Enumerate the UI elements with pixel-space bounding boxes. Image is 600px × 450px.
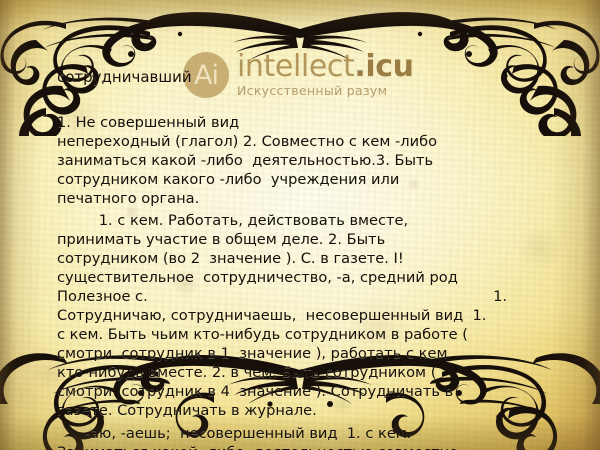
line-text: сотрудничавший <box>57 68 192 86</box>
definition-line: Сотрудничаю, сотрудничаешь, несовершенны… <box>57 306 557 325</box>
line-text: печатного органа. <box>57 190 199 207</box>
line-text: Сотрудничаю, сотрудничаешь, несовершенны… <box>57 307 486 324</box>
line-text: -аю, -аешь; несовершенный вид 1. с кем. <box>57 425 411 442</box>
definition-line: заниматься какой -либо деятельностью.3. … <box>57 151 557 170</box>
definition-line: сотрудником (во 2 значение ). С. в газет… <box>57 249 557 268</box>
line-text: принимать участие в общем деле. 2. Быть <box>57 231 385 248</box>
line-text: смотри сотрудник в 4 значение ). Сотрудн… <box>57 383 453 400</box>
definition-line: печатного органа. <box>57 189 557 208</box>
line-text: непереходный (глагол) 2. Совместно с кем… <box>57 133 437 150</box>
line-text: Полезное с. <box>57 288 148 305</box>
definition-line: 1. Не совершенный вид <box>57 113 557 132</box>
definition-line: существительное сотрудничество, -а, сред… <box>57 268 557 287</box>
definition-line: 1. с кем. Работать, действовать вместе, <box>57 211 557 230</box>
line-text: 1. с кем. Работать, действовать вместе, <box>57 212 408 229</box>
definition-line: Полезное с.1. <box>57 287 557 306</box>
definition-line: с кем. Быть чьим кто-нибудь сотрудником … <box>57 325 557 344</box>
line-text: Заниматься какой -либо деятельностью сов… <box>57 444 458 450</box>
definition-line: непереходный (глагол) 2. Совместно с кем… <box>57 132 557 151</box>
definition-line: сотрудником какого -либо учреждения или <box>57 170 557 189</box>
line-text: заниматься какой -либо деятельностью.3. … <box>57 152 433 169</box>
definition-line: принимать участие в общем деле. 2. Быть <box>57 230 557 249</box>
line-text: кто-нибудь вместе. 2. в чем. Быть сотруд… <box>57 364 436 381</box>
entry-headword: сотрудничавший <box>57 68 557 87</box>
line-trailing-number: 1. <box>493 287 507 306</box>
line-text: 1. Не совершенный вид <box>57 114 239 131</box>
line-text: газете. Сотрудничать в журнале. <box>57 402 317 419</box>
line-text: сотрудником какого -либо учреждения или <box>57 171 399 188</box>
definition-line: -аю, -аешь; несовершенный вид 1. с кем. <box>57 424 557 443</box>
line-text: существительное сотрудничество, -а, сред… <box>57 269 458 286</box>
dictionary-text: сотрудничавший1. Не совершенный виднепер… <box>0 0 600 450</box>
definition-line: газете. Сотрудничать в журнале. <box>57 401 557 420</box>
definition-line: Заниматься какой -либо деятельностью сов… <box>57 443 557 450</box>
dictionary-page: Ai intellect.icu Искусственный разум сот… <box>0 0 600 450</box>
line-text: сотрудником (во 2 значение ). С. в газет… <box>57 250 404 267</box>
definition-line: смотри сотрудник в 4 значение ). Сотрудн… <box>57 382 557 401</box>
definition-line: кто-нибудь вместе. 2. в чем. Быть сотруд… <box>57 363 557 382</box>
definition-line: смотри сотрудник в 1 значение ), работат… <box>57 344 557 363</box>
line-text: с кем. Быть чьим кто-нибудь сотрудником … <box>57 326 468 343</box>
line-text: смотри сотрудник в 1 значение ), работат… <box>57 345 447 362</box>
